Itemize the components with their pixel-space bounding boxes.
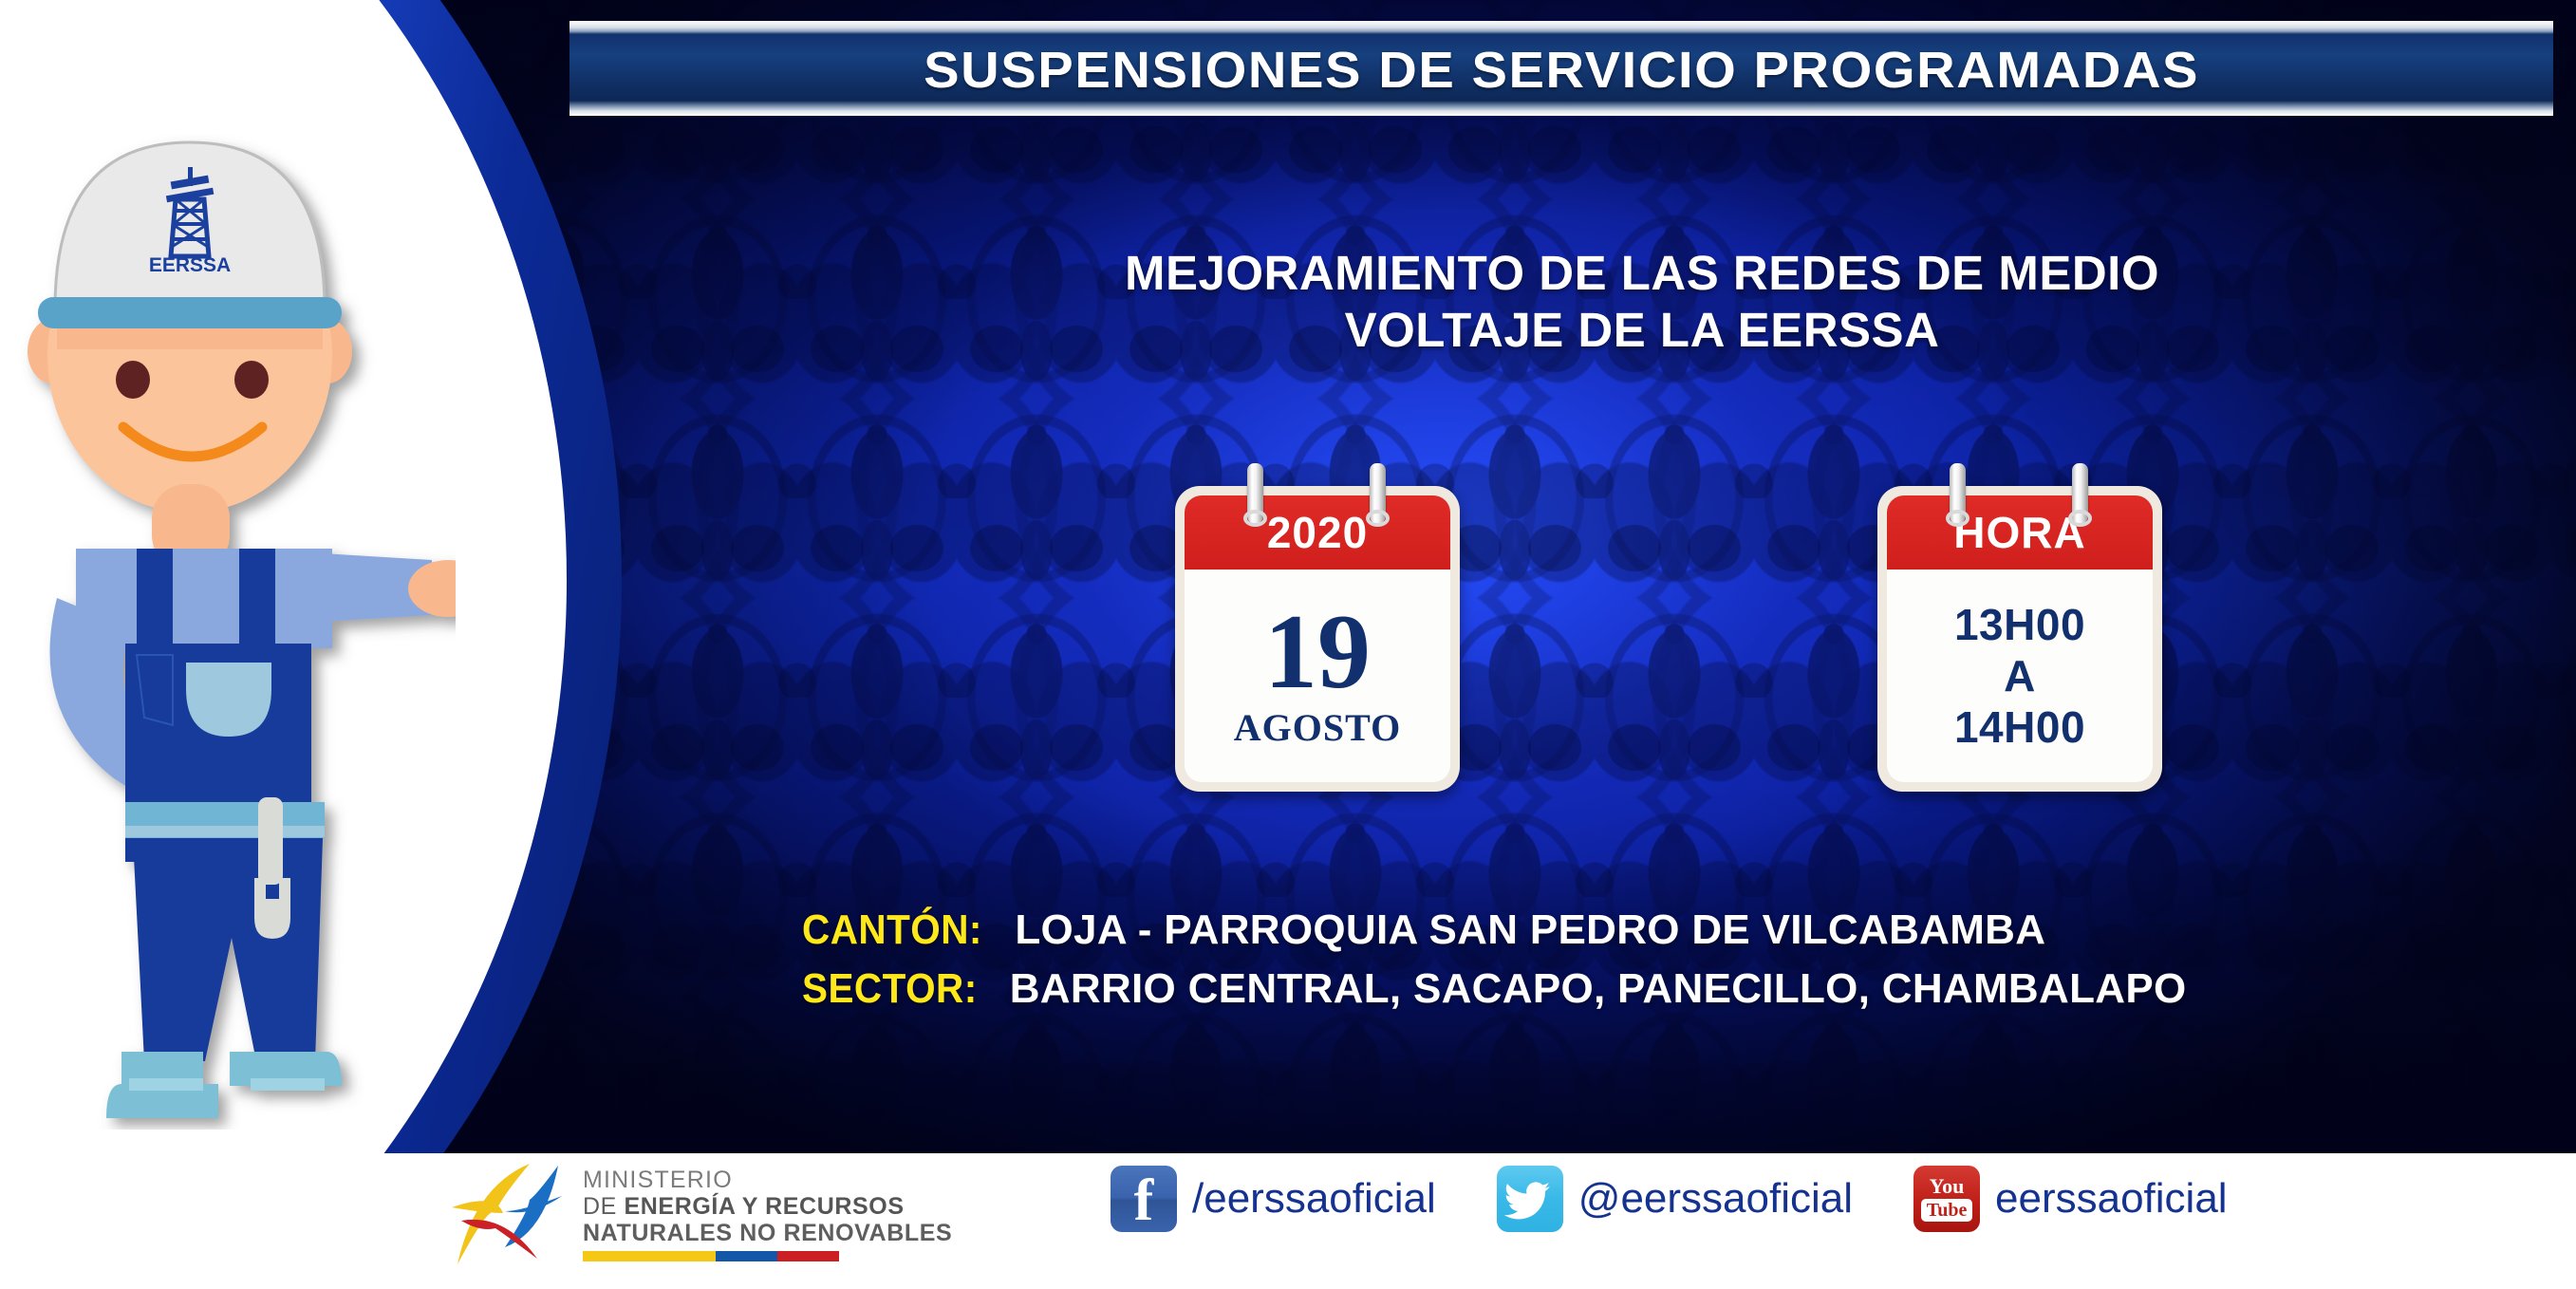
mascot-boot-right-stripe: [251, 1078, 325, 1091]
ministry-line-2-prefix: DE: [583, 1193, 624, 1220]
poster-canvas: EERSSA: [0, 0, 2576, 1289]
canton-row: CANTÓN: LOJA - PARROQUIA SAN PEDRO DE VI…: [802, 906, 2501, 954]
mascot-eye-left: [116, 361, 150, 399]
mascot-eye-right: [234, 361, 269, 399]
sector-label: SECTOR:: [802, 965, 978, 1013]
canton-value: LOJA - PARROQUIA SAN PEDRO DE VILCABAMBA: [1015, 906, 2045, 954]
ministry-logo-block: MINISTERIO DE ENERGÍA Y RECURSOS NATURAL…: [446, 1158, 952, 1270]
hour-calendar-sheet: 13H00 A 14H00: [1887, 570, 2153, 782]
facebook-handle[interactable]: /eerssaoficial: [1192, 1175, 1436, 1223]
calendar-ring-icon: [1950, 463, 1966, 524]
subtitle-line-2: VOLTAJE DE LA EERSSA: [778, 302, 2506, 359]
mascot-bib-pocket: [186, 663, 271, 737]
banner-title: SUSPENSIONES DE SERVICIO PROGRAMADAS: [924, 41, 2199, 100]
facebook-icon[interactable]: f: [1111, 1166, 1177, 1232]
twitter-icon[interactable]: [1497, 1166, 1563, 1232]
mascot-helmet-brim: [38, 297, 342, 328]
date-calendar-day: 19: [1264, 602, 1371, 704]
date-calendar-sheet: 19 AGOSTO: [1185, 570, 1450, 782]
ministry-line-2: DE ENERGÍA Y RECURSOS: [583, 1193, 952, 1220]
date-calendar-body: 2020 19 AGOSTO: [1175, 486, 1460, 792]
hour-start: 13H00: [1954, 599, 2085, 650]
calendar-rings-date: [1175, 463, 1460, 530]
mascot-belt-stripe: [125, 826, 325, 837]
calendar-ring-icon: [2072, 463, 2088, 524]
youtube-handle[interactable]: eerssaoficial: [1995, 1175, 2228, 1223]
ministry-emblem-icon: [446, 1158, 568, 1270]
mascot-illustration: EERSSA: [19, 66, 456, 1130]
subtitle-block: MEJORAMIENTO DE LAS REDES DE MEDIO VOLTA…: [778, 245, 2506, 358]
mascot-legs: [133, 838, 323, 1061]
twitter-link[interactable]: @eerssaoficial: [1497, 1166, 1853, 1232]
twitter-handle[interactable]: @eerssaoficial: [1578, 1175, 1853, 1223]
hour-calendar-body: HORA 13H00 A 14H00: [1877, 486, 2162, 792]
youtube-icon-top: You: [1930, 1176, 1965, 1197]
ministry-line-1: MINISTERIO: [583, 1167, 952, 1193]
sector-value: BARRIO CENTRAL, SACAPO, PANECILLO, CHAMB…: [1010, 965, 2187, 1013]
hour-separator: A: [2004, 650, 2036, 701]
ecuador-flag-bar: [583, 1251, 839, 1261]
subtitle-line-1: MEJORAMIENTO DE LAS REDES DE MEDIO: [778, 245, 2506, 302]
hour-calendar-card: HORA 13H00 A 14H00: [1877, 486, 2162, 792]
hour-end: 14H00: [1954, 701, 2085, 753]
canton-label: CANTÓN:: [802, 906, 982, 954]
youtube-icon[interactable]: You Tube: [1913, 1166, 1980, 1232]
header-banner: SUSPENSIONES DE SERVICIO PROGRAMADAS: [569, 21, 2553, 116]
mascot-boot-left-stripe: [129, 1078, 203, 1091]
location-info-block: CANTÓN: LOJA - PARROQUIA SAN PEDRO DE VI…: [802, 906, 2501, 1024]
ministry-text-block: MINISTERIO DE ENERGÍA Y RECURSOS NATURAL…: [583, 1167, 952, 1261]
calendar-ring-icon: [1370, 463, 1386, 524]
youtube-icon-bottom: Tube: [1921, 1199, 1973, 1222]
calendar-ring-icon: [1247, 463, 1263, 524]
calendar-rings-hour: [1877, 463, 2162, 530]
facebook-link[interactable]: f /eerssaoficial: [1111, 1166, 1436, 1232]
ministry-line-2-bold: ENERGÍA Y RECURSOS: [624, 1193, 904, 1220]
date-calendar-month: AGOSTO: [1234, 705, 1401, 750]
svg-text:EERSSA: EERSSA: [149, 254, 231, 276]
ministry-line-3: NATURALES NO RENOVABLES: [583, 1220, 952, 1246]
social-links-group: f /eerssaoficial @eerssaoficial You Tube…: [1111, 1166, 2264, 1232]
sector-row: SECTOR: BARRIO CENTRAL, SACAPO, PANECILL…: [802, 965, 2501, 1013]
youtube-link[interactable]: You Tube eerssaoficial: [1913, 1166, 2228, 1232]
date-calendar-card: 2020 19 AGOSTO: [1175, 486, 1460, 792]
